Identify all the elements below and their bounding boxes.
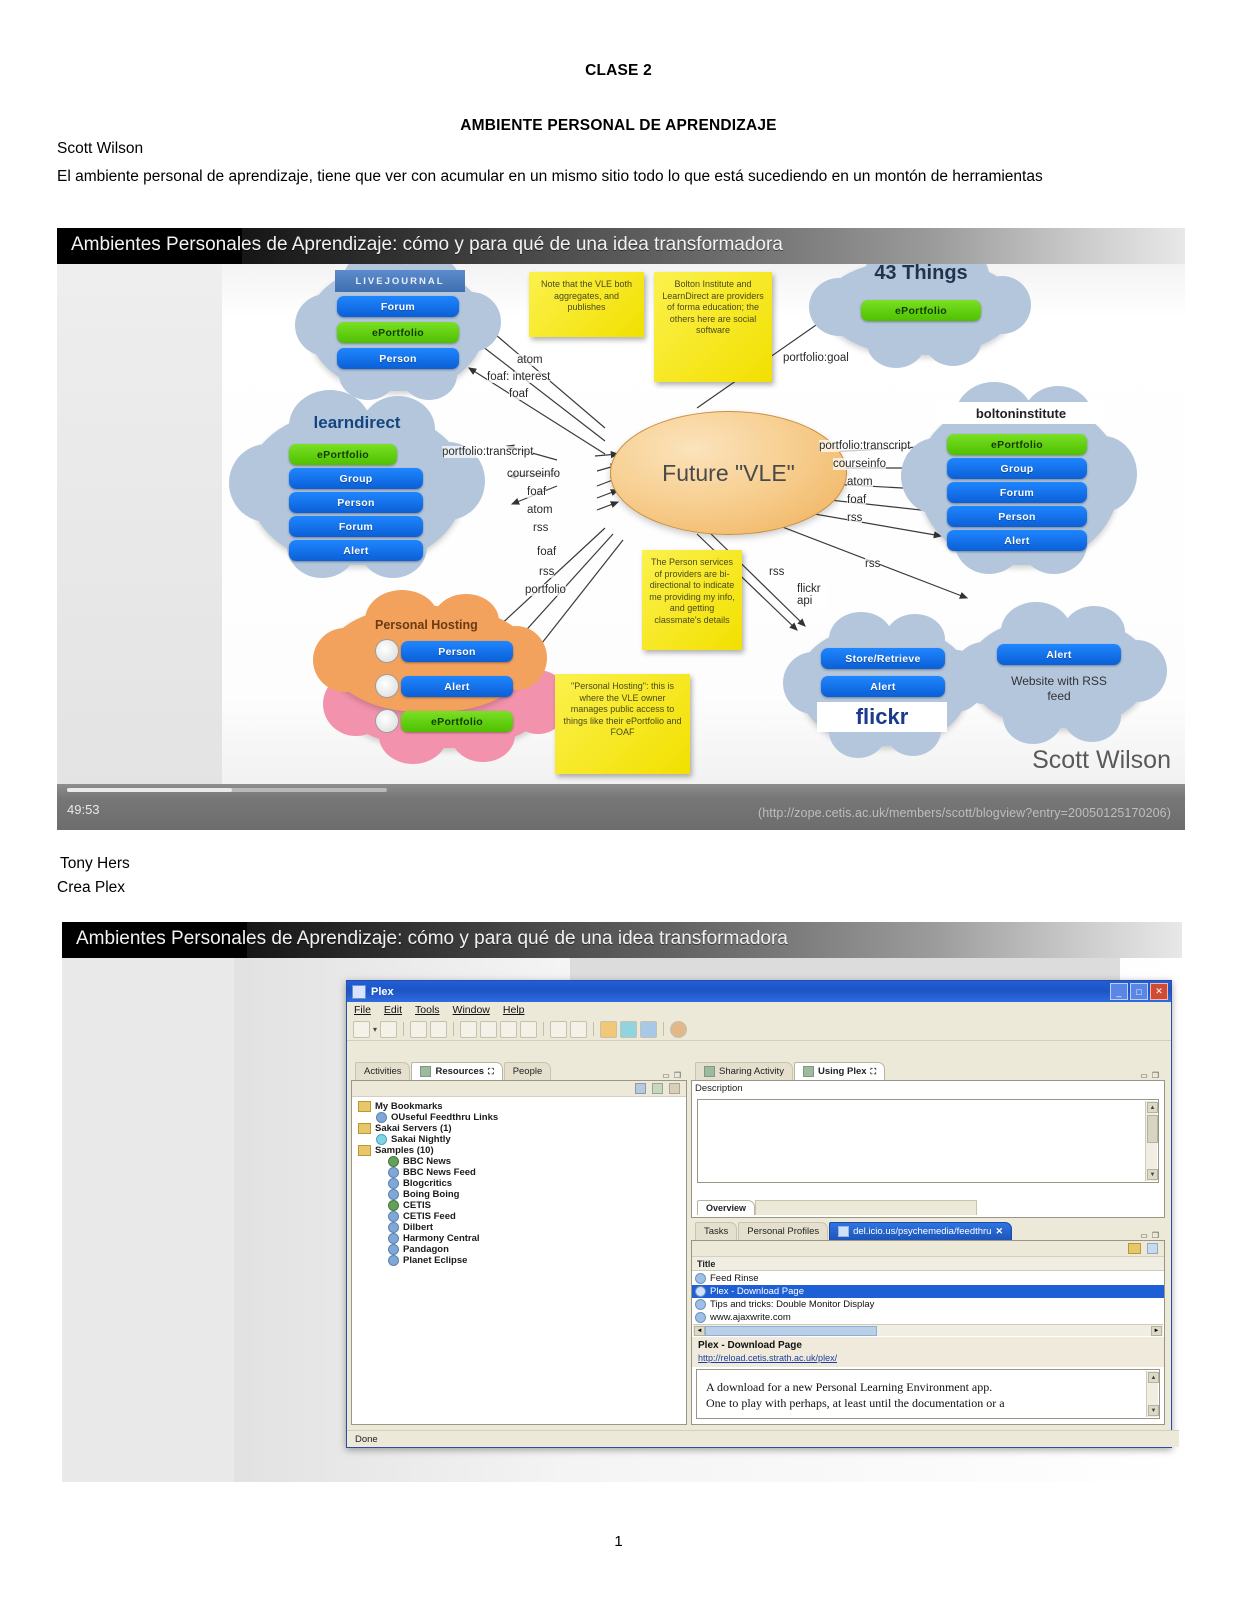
rss-icon xyxy=(375,674,399,698)
feed-icon xyxy=(695,1299,706,1310)
slide2-banner: Ambientes Personales de Aprendizaje: cóm… xyxy=(62,922,1182,958)
plex-toolbar: ▾ xyxy=(347,1018,1171,1041)
cloud-website-rss: Alert Website with RSS feed xyxy=(969,618,1149,728)
plex-statusbar: Done xyxy=(347,1430,1179,1447)
tab-personal-profiles-label: Personal Profiles xyxy=(747,1226,819,1237)
label-website-rss: Website with RSS feed xyxy=(1003,674,1115,704)
tab-tasks-label: Tasks xyxy=(704,1226,728,1237)
logo-livejournal: LIVEJOURNAL xyxy=(335,270,465,292)
description-panel: Description ▲ ▼ Overview xyxy=(691,1080,1165,1218)
chip-forum: Forum xyxy=(289,516,423,537)
tree-item: Blogcritics xyxy=(388,1178,686,1189)
save-icon[interactable] xyxy=(380,1021,397,1038)
slide-plex-screenshot: Plex _ □ ✕ File Edit Tools Window Help ▾ xyxy=(62,922,1182,1482)
minimize-pane-icon[interactable]: ▭ xyxy=(1140,1071,1148,1080)
edge-label-atom: atom xyxy=(527,504,553,516)
toolbar-separator xyxy=(593,1022,594,1036)
edge-label-portfolio-goal: portfolio:goal xyxy=(783,352,849,364)
tab-activities-label: Activities xyxy=(364,1066,401,1077)
edge-label-courseinfo: courseinfo xyxy=(833,458,886,470)
delete-icon[interactable] xyxy=(520,1021,537,1038)
tree-item: Harmony Central xyxy=(388,1233,686,1244)
feed-list[interactable]: Feed Rinse Plex - Download Page Tips and… xyxy=(692,1271,1164,1324)
chip-group: Group xyxy=(289,468,423,489)
toolbar-separator xyxy=(663,1022,664,1036)
video-timecode: 49:53 xyxy=(67,802,100,817)
maximize-pane-icon[interactable]: ❐ xyxy=(674,1071,681,1080)
rss-icon xyxy=(375,639,399,663)
up-arrow-icon[interactable] xyxy=(550,1021,567,1038)
resources-pane: Activities Resources ⛶ People ▭ ❐ xyxy=(351,1061,685,1423)
cloud-learndirect: learndirect ePortfolio Group Person Foru… xyxy=(249,410,464,565)
window-icon[interactable] xyxy=(640,1021,657,1038)
detail-header: Plex - Download Page http://reload.cetis… xyxy=(692,1337,1164,1367)
feed-list-panel: Title Feed Rinse Plex - Download Page Ti… xyxy=(691,1240,1165,1425)
minimize-pane-icon[interactable]: ▭ xyxy=(662,1071,670,1080)
slide-credit: Scott Wilson xyxy=(1032,746,1171,775)
using-plex-pane: Sharing Activity Using Plex ⛶ ▭ ❐ Descri… xyxy=(691,1061,1163,1216)
detail-scrollbar[interactable]: ▲ ▼ xyxy=(1146,1371,1158,1417)
plex-window: Plex _ □ ✕ File Edit Tools Window Help ▾ xyxy=(346,980,1172,1448)
chip-alert: Alert xyxy=(401,676,513,697)
plex-window-title: Plex xyxy=(371,986,394,998)
down-arrow-icon[interactable] xyxy=(570,1021,587,1038)
person-icon[interactable] xyxy=(600,1021,617,1038)
document-page: CLASE 2 AMBIENTE PERSONAL DE APRENDIZAJE… xyxy=(0,0,1237,1600)
chip-alert: Alert xyxy=(821,676,945,697)
list-item[interactable]: Feed Rinse xyxy=(692,1272,1164,1285)
view-menu-icon[interactable] xyxy=(1147,1243,1158,1254)
plex-menubar: File Edit Tools Window Help xyxy=(347,1002,1171,1018)
tab-resources-label: Resources xyxy=(435,1066,484,1077)
feed-icon xyxy=(388,1211,399,1222)
tab-sharing-activity-label: Sharing Activity xyxy=(719,1066,784,1077)
plex-titlebar: Plex _ □ ✕ xyxy=(347,981,1171,1002)
feed-icon xyxy=(376,1112,387,1123)
close-icon[interactable]: ✕ xyxy=(995,1226,1003,1237)
tab-strip-filler xyxy=(755,1200,977,1215)
tab-activities[interactable]: Activities xyxy=(355,1062,410,1080)
menu-help[interactable]: Help xyxy=(503,1004,525,1016)
chip-store-retrieve: Store/Retrieve xyxy=(821,648,945,669)
chip-person: Person xyxy=(337,348,459,369)
chevron-down-icon[interactable]: ▾ xyxy=(373,1025,377,1034)
list-item[interactable]: Tips and tricks: Double Monitor Display xyxy=(692,1298,1164,1311)
logo-flickr: flickr xyxy=(817,702,947,732)
tab-feedthru[interactable]: del.icio.us/psychemedia/feedthru ✕ xyxy=(829,1222,1012,1240)
detail-body-line-2: One to play with perhaps, at least until… xyxy=(706,1395,1150,1411)
edge-label-courseinfo: courseinfo xyxy=(507,468,560,480)
cloud-bolton-institute: boltoninstitute ePortfolio Group Forum P… xyxy=(919,400,1119,565)
detail-body-line-1: A download for a new Personal Learning E… xyxy=(706,1379,1150,1395)
feed-icon xyxy=(388,1167,399,1178)
collapse-all-icon[interactable] xyxy=(635,1083,646,1094)
edge-label-foaf: foaf xyxy=(509,388,528,400)
tree-item: OUseful Feedthru Links xyxy=(376,1112,686,1123)
sharing-icon xyxy=(704,1066,715,1077)
tab-feedthru-label: del.icio.us/psychemedia/feedthru xyxy=(853,1226,991,1237)
minimize-button[interactable]: _ xyxy=(1110,983,1128,1000)
column-header-title[interactable]: Title xyxy=(697,1259,715,1269)
tree-item: My Bookmarks xyxy=(358,1101,686,1112)
tree-item: CETIS Feed xyxy=(388,1211,686,1222)
feed-icon xyxy=(388,1189,399,1200)
chip-group: Group xyxy=(947,458,1087,479)
sticky-note-4: "Personal Hosting": this is where the VL… xyxy=(555,674,690,774)
feed-icon xyxy=(388,1222,399,1233)
detail-body: A download for a new Personal Learning E… xyxy=(696,1369,1160,1419)
bottom-tabstrip: Tasks Personal Profiles del.icio.us/psyc… xyxy=(691,1221,1163,1240)
chip-eportfolio: ePortfolio xyxy=(337,322,459,343)
feed-icon xyxy=(388,1244,399,1255)
menu-edit[interactable]: Edit xyxy=(384,1004,402,1016)
edge-label-foaf: foaf xyxy=(847,494,866,506)
tab-personal-profiles[interactable]: Personal Profiles xyxy=(738,1222,828,1240)
tab-people-label: People xyxy=(513,1066,543,1077)
scroll-down-icon[interactable]: ▼ xyxy=(1148,1405,1159,1416)
feedthru-pane: Tasks Personal Profiles del.icio.us/psyc… xyxy=(691,1221,1163,1423)
toolbar-separator xyxy=(403,1022,404,1036)
edge-label-rss: rss xyxy=(769,566,784,578)
using-plex-icon xyxy=(803,1066,814,1077)
chip-person: Person xyxy=(401,641,513,662)
left-tabstrip: Activities Resources ⛶ People ▭ ❐ xyxy=(351,1061,685,1080)
cloud-livejournal: LIVEJOURNAL Forum ePortfolio Person xyxy=(309,266,484,391)
sort-icon[interactable] xyxy=(652,1083,663,1094)
chip-alert: Alert xyxy=(289,540,423,561)
feed-icon xyxy=(695,1312,706,1323)
resources-tree[interactable]: My Bookmarks OUseful Feedthru Links Saka… xyxy=(352,1097,686,1266)
scroll-up-icon[interactable]: ▲ xyxy=(1147,1102,1158,1113)
feed-icon xyxy=(388,1233,399,1244)
logo-learndirect: learndirect xyxy=(277,412,437,434)
resources-tree-panel: My Bookmarks OUseful Feedthru Links Saka… xyxy=(351,1080,687,1425)
slide-vle-diagram: LIVEJOURNAL Forum ePortfolio Person lear… xyxy=(57,228,1185,830)
cut-icon[interactable] xyxy=(460,1021,477,1038)
maximize-pane-icon[interactable]: ❐ xyxy=(1152,1071,1159,1080)
edge-label-atom: atom xyxy=(847,476,873,488)
edge-label-foaf-interest: foaf: interest xyxy=(487,371,550,383)
paste-icon[interactable] xyxy=(500,1021,517,1038)
slide2-left-block xyxy=(62,958,234,1482)
tab-tasks[interactable]: Tasks xyxy=(695,1222,737,1240)
status-text: Done xyxy=(355,1434,378,1445)
feed-icon xyxy=(388,1178,399,1189)
tree-item: Sakai Nightly xyxy=(376,1134,686,1145)
profile-icon[interactable] xyxy=(670,1021,687,1038)
chip-person: Person xyxy=(947,506,1087,527)
chip-forum: Forum xyxy=(337,296,459,317)
author-scott-wilson: Scott Wilson xyxy=(57,140,143,158)
maximize-button[interactable]: □ xyxy=(1130,983,1148,1000)
progress-bar[interactable] xyxy=(67,788,387,792)
tab-using-plex-label: Using Plex xyxy=(818,1066,867,1077)
sticky-note-2: Bolton Institute and LearnDirect are pro… xyxy=(654,272,772,382)
slide1-banner-title: Ambientes Personales de Aprendizaje: cóm… xyxy=(71,234,783,256)
copy-icon[interactable] xyxy=(480,1021,497,1038)
folder-icon xyxy=(358,1101,371,1112)
scroll-left-icon[interactable]: ◄ xyxy=(694,1326,705,1336)
edge-label-flickr-api: flickr api xyxy=(797,583,827,607)
edge-label-atom: atom xyxy=(517,354,543,366)
maximize-tab-icon[interactable]: ⛶ xyxy=(871,1067,877,1077)
horizontal-scrollbar[interactable]: ◄ ► xyxy=(693,1324,1163,1336)
tree-item: Boing Boing xyxy=(388,1189,686,1200)
tab-resources[interactable]: Resources ⛶ xyxy=(411,1062,502,1080)
label-personal-hosting: Personal Hosting xyxy=(375,618,478,632)
menu-file[interactable]: File xyxy=(354,1004,371,1016)
folder-icon xyxy=(358,1123,371,1134)
chip-alert: Alert xyxy=(997,644,1121,665)
tree-item: Sakai Servers (1) xyxy=(358,1123,686,1134)
sticky-note-1: Note that the VLE both aggregates, and p… xyxy=(529,272,644,337)
cloud-43things: 43 Things ePortfolio xyxy=(825,260,1015,355)
logo-bolton-institute: boltoninstitute xyxy=(937,402,1105,424)
menu-window[interactable]: Window xyxy=(453,1004,490,1016)
sticky-note-3: The Person services of providers are bi-… xyxy=(642,550,742,650)
maximize-pane-icon[interactable]: ❐ xyxy=(1152,1231,1159,1240)
chip-forum: Forum xyxy=(947,482,1087,503)
tab-using-plex[interactable]: Using Plex ⛶ xyxy=(794,1062,885,1080)
toolbar-separator xyxy=(543,1022,544,1036)
resources-icon xyxy=(420,1066,431,1077)
tree-item: BBC News Feed xyxy=(388,1167,686,1178)
slide1-banner: Ambientes Personales de Aprendizaje: cóm… xyxy=(57,228,1185,264)
tab-sharing-activity[interactable]: Sharing Activity xyxy=(695,1062,793,1080)
edge-label-foaf: foaf xyxy=(527,486,546,498)
detail-heading: Plex - Download Page xyxy=(698,1340,1158,1351)
intro-paragraph: El ambiente personal de aprendizaje, tie… xyxy=(57,164,1147,189)
right-tabstrip: Sharing Activity Using Plex ⛶ ▭ ❐ xyxy=(691,1061,1163,1080)
filter-icon[interactable] xyxy=(669,1083,680,1094)
window-controls: _ □ ✕ xyxy=(1110,983,1168,1000)
tab-people[interactable]: People xyxy=(504,1062,552,1080)
maximize-tab-icon[interactable]: ⛶ xyxy=(488,1067,494,1077)
description-input[interactable]: ▲ ▼ xyxy=(697,1099,1159,1183)
description-label: Description xyxy=(692,1081,1164,1096)
plex-app-icon xyxy=(352,985,366,999)
page-subtitle: AMBIENTE PERSONAL DE APRENDIZAJE xyxy=(0,117,1237,135)
toolbar-separator xyxy=(453,1022,454,1036)
server-icon xyxy=(376,1134,387,1145)
edge-label-portfolio-transcript: portfolio:transcript xyxy=(442,446,533,458)
chip-alert: Alert xyxy=(947,530,1087,551)
menu-tools[interactable]: Tools xyxy=(415,1004,440,1016)
page-title: CLASE 2 xyxy=(0,62,1237,80)
chip-person: Person xyxy=(289,492,423,513)
node-future-vle: Future "VLE" xyxy=(610,411,847,535)
scroll-up-icon[interactable]: ▲ xyxy=(1148,1372,1159,1383)
progress-fill xyxy=(67,788,232,792)
close-button[interactable]: ✕ xyxy=(1150,983,1168,1000)
new-icon[interactable] xyxy=(353,1021,370,1038)
undo-icon[interactable] xyxy=(410,1021,427,1038)
tree-item: Pandagon xyxy=(388,1244,686,1255)
link-icon xyxy=(838,1226,849,1237)
logo-43things: 43 Things xyxy=(841,262,1001,284)
minimize-pane-icon[interactable]: ▭ xyxy=(1140,1231,1148,1240)
tree-item: BBC News xyxy=(388,1156,686,1167)
scroll-thumb[interactable] xyxy=(1147,1115,1158,1143)
slide2-banner-title: Ambientes Personales de Aprendizaje: cóm… xyxy=(76,928,788,950)
redo-icon[interactable] xyxy=(430,1021,447,1038)
edge-label-foaf: foaf xyxy=(537,546,556,558)
author-tony-hers-note: Crea Plex xyxy=(57,879,125,897)
rss-icon xyxy=(375,709,399,733)
scroll-thumb[interactable] xyxy=(705,1326,877,1336)
tab-overview[interactable]: Overview xyxy=(697,1200,755,1215)
video-player-bar[interactable]: 49:53 Scott Wilson (http://zope.cetis.ac… xyxy=(57,784,1185,830)
scroll-down-icon[interactable]: ▼ xyxy=(1147,1169,1158,1180)
chip-eportfolio: ePortfolio xyxy=(401,711,513,732)
feed-icon[interactable] xyxy=(620,1021,637,1038)
chip-eportfolio: ePortfolio xyxy=(289,444,397,465)
description-scrollbar[interactable]: ▲ ▼ xyxy=(1145,1101,1157,1181)
slide-source-url: (http://zope.cetis.ac.uk/members/scott/b… xyxy=(758,806,1171,820)
list-item[interactable]: www.ajaxwrite.com xyxy=(692,1311,1164,1324)
chip-eportfolio: ePortfolio xyxy=(947,434,1087,455)
add-feed-icon[interactable] xyxy=(1128,1243,1141,1254)
feed-icon xyxy=(695,1286,706,1297)
list-item-selected[interactable]: Plex - Download Page xyxy=(692,1285,1164,1298)
bookmark-icon xyxy=(388,1156,399,1167)
edge-label-rss: rss xyxy=(865,558,880,570)
page-number: 1 xyxy=(0,1533,1237,1550)
slide1-left-gutter xyxy=(57,264,222,794)
node-future-vle-label: Future "VLE" xyxy=(662,460,795,487)
edge-label-rss: rss xyxy=(533,522,548,534)
feed-icon xyxy=(388,1255,399,1266)
detail-link[interactable]: http://reload.cetis.strath.ac.uk/plex/ xyxy=(698,1353,1158,1363)
cloud-flickr: Store/Retrieve Alert flickr xyxy=(799,626,969,746)
feed-icon xyxy=(695,1273,706,1284)
edge-label-rss: rss xyxy=(847,512,862,524)
author-tony-hers: Tony Hers xyxy=(60,855,130,873)
edge-label-portfolio: portfolio xyxy=(525,584,566,596)
folder-icon xyxy=(358,1145,371,1156)
tree-item: CETIS xyxy=(388,1200,686,1211)
edge-label-rss: rss xyxy=(539,566,554,578)
tree-item: Dilbert xyxy=(388,1222,686,1233)
tab-overview-label: Overview xyxy=(706,1203,746,1213)
tree-item: Samples (10) xyxy=(358,1145,686,1156)
scroll-right-icon[interactable]: ► xyxy=(1151,1326,1162,1336)
chip-eportfolio: ePortfolio xyxy=(861,300,981,321)
edge-label-portfolio-transcript: portfolio:transcript xyxy=(819,440,910,452)
bookmark-icon xyxy=(388,1200,399,1211)
tree-item: Planet Eclipse xyxy=(388,1255,686,1266)
